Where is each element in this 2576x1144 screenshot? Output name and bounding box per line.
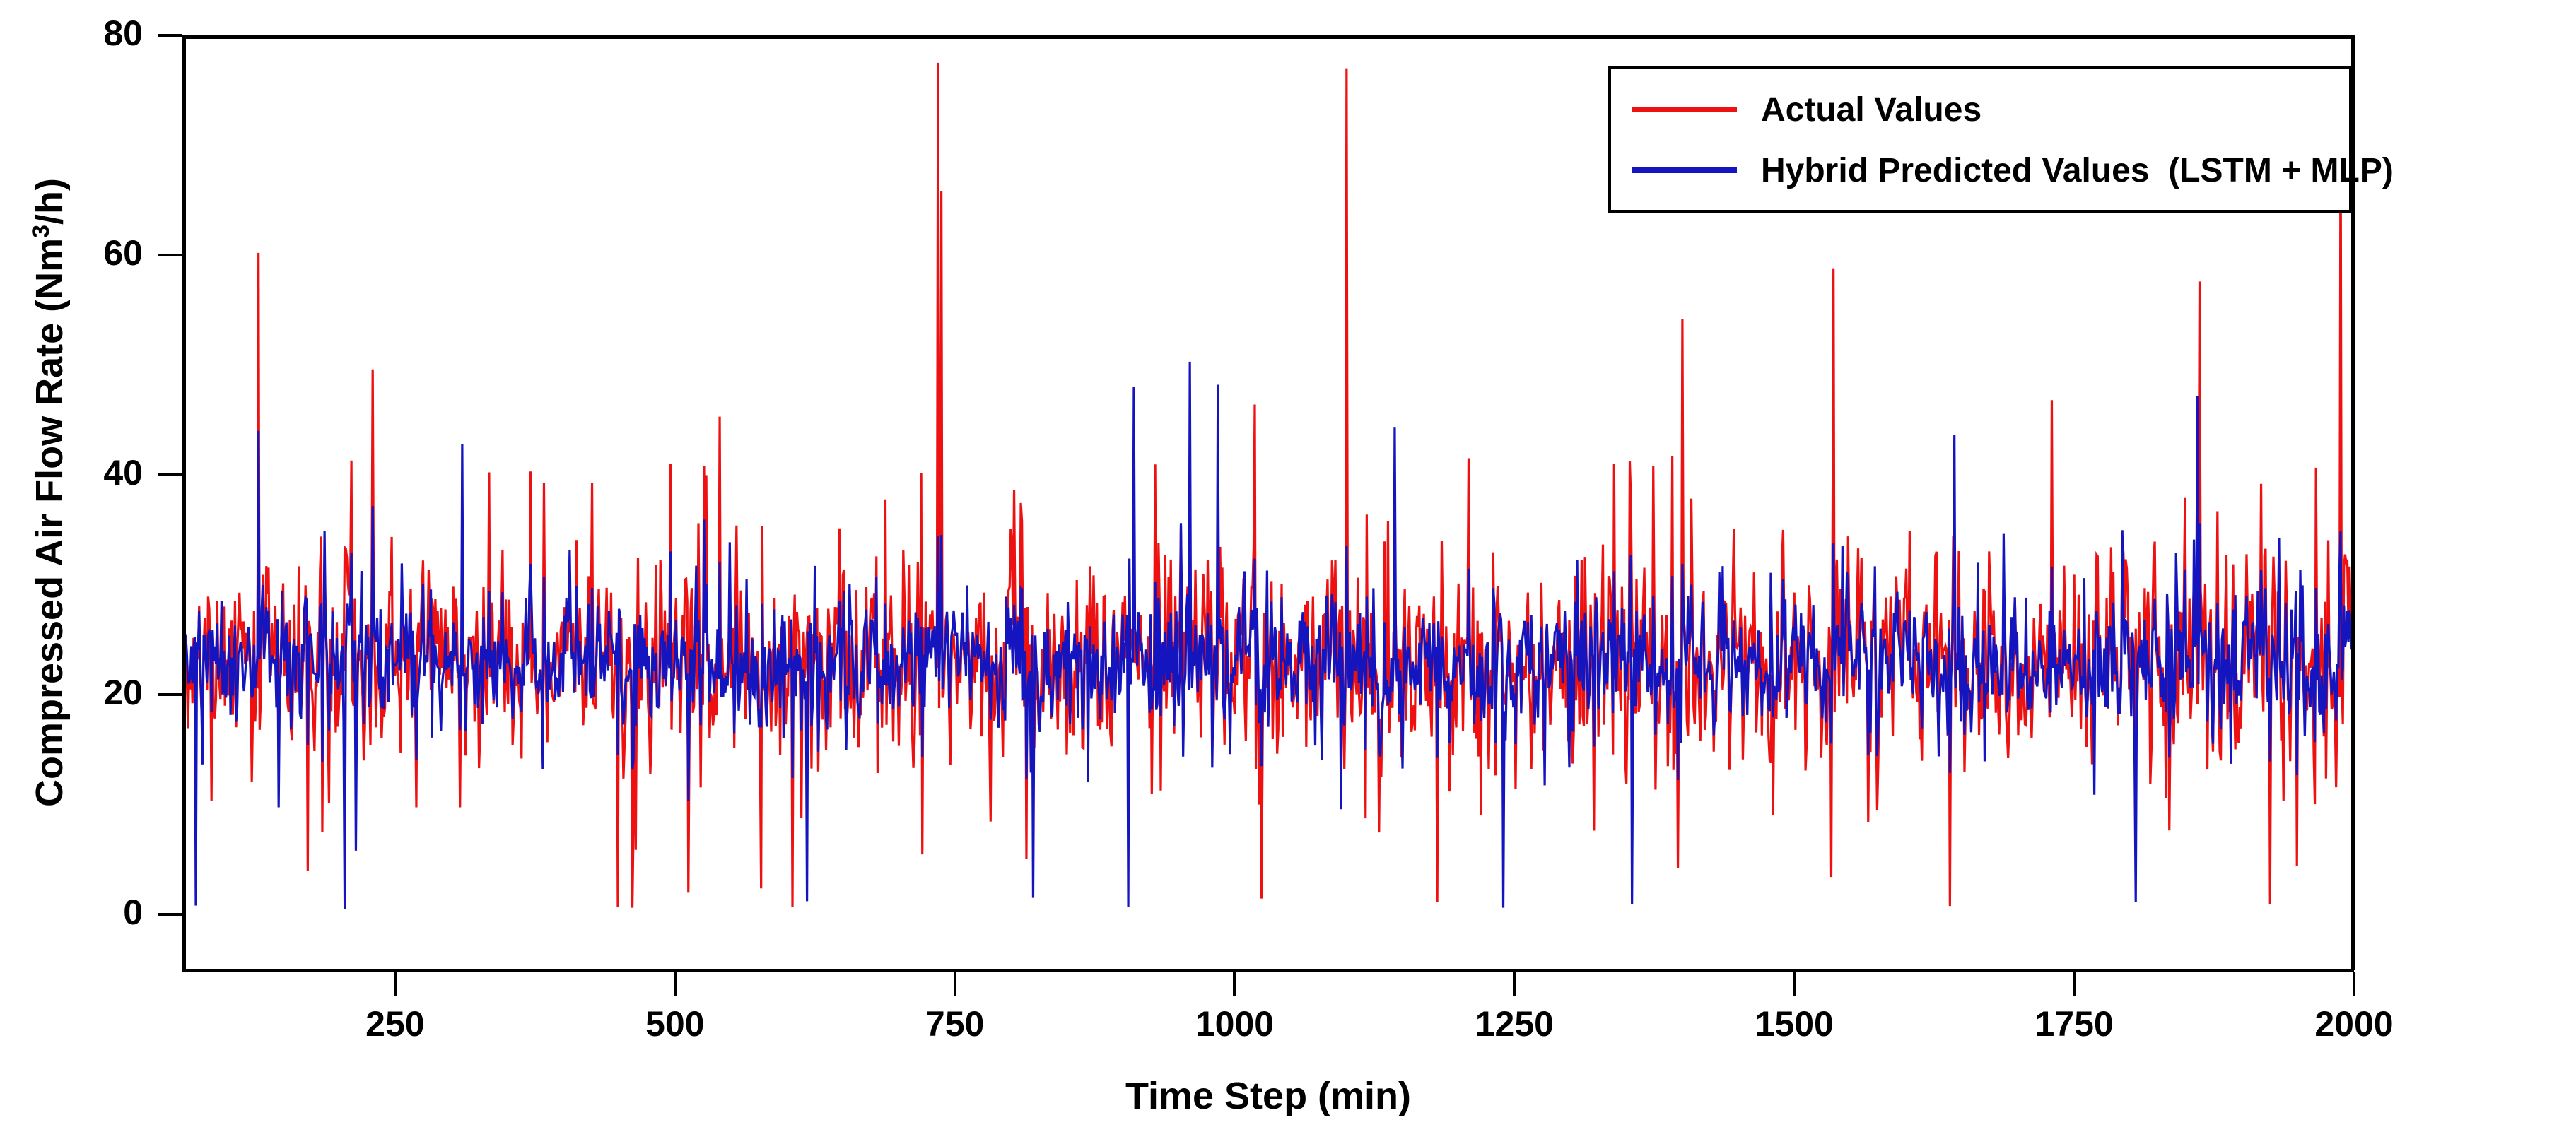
legend-swatch-actual-values — [1632, 107, 1737, 112]
y-tick-label-20: 20 — [0, 672, 143, 713]
y-tick-20 — [158, 693, 182, 696]
x-tick-750 — [954, 972, 956, 996]
legend-box: Actual Values Hybrid Predicted Values (L… — [1608, 66, 2352, 213]
y-tick-label-60: 60 — [0, 232, 143, 273]
plot-frame-top — [182, 35, 2354, 39]
y-tick-0 — [158, 913, 182, 916]
x-tick-2000 — [2353, 972, 2355, 996]
legend-label-actual-values: Actual Values — [1761, 90, 1981, 129]
x-tick-label-1250: 1250 — [1408, 1003, 1620, 1044]
y-axis-line — [182, 35, 186, 970]
y-tick-label-80: 80 — [0, 13, 143, 54]
x-tick-250 — [394, 972, 397, 996]
y-tick-80 — [158, 34, 182, 37]
x-tick-label-750: 750 — [849, 1003, 1061, 1044]
x-tick-1000 — [1233, 972, 1236, 996]
x-tick-label-1500: 1500 — [1688, 1003, 1900, 1044]
y-axis-title-end: /h) — [28, 178, 71, 225]
x-tick-label-1000: 1000 — [1128, 1003, 1340, 1044]
x-tick-1250 — [1513, 972, 1516, 996]
y-tick-40 — [158, 473, 182, 476]
y-axis-title-main: Compressed Air Flow Rate (Nm — [28, 238, 71, 807]
x-tick-label-2000: 2000 — [2248, 1003, 2460, 1044]
x-tick-label-500: 500 — [569, 1003, 781, 1044]
x-tick-1500 — [1793, 972, 1796, 996]
y-tick-label-0: 0 — [0, 892, 143, 933]
x-axis-title: Time Step (min) — [182, 1074, 2354, 1118]
legend-item-actual-values[interactable]: Actual Values — [1611, 81, 2349, 138]
y-tick-label-40: 40 — [0, 452, 143, 493]
legend-swatch-hybrid-predicted-values — [1632, 167, 1737, 173]
legend-label-hybrid-predicted-values: Hybrid Predicted Values (LSTM + MLP) — [1761, 151, 2394, 190]
y-tick-60 — [158, 254, 182, 256]
x-tick-label-1750: 1750 — [1968, 1003, 2180, 1044]
x-tick-500 — [674, 972, 677, 996]
legend-item-hybrid-predicted-values[interactable]: Hybrid Predicted Values (LSTM + MLP) — [1611, 142, 2349, 199]
chart-figure: Compressed Air Flow Rate (Nm3/h) 0204060… — [0, 0, 2576, 1144]
x-axis-line — [182, 969, 2354, 972]
x-tick-label-250: 250 — [289, 1003, 501, 1044]
x-tick-1750 — [2073, 972, 2076, 996]
